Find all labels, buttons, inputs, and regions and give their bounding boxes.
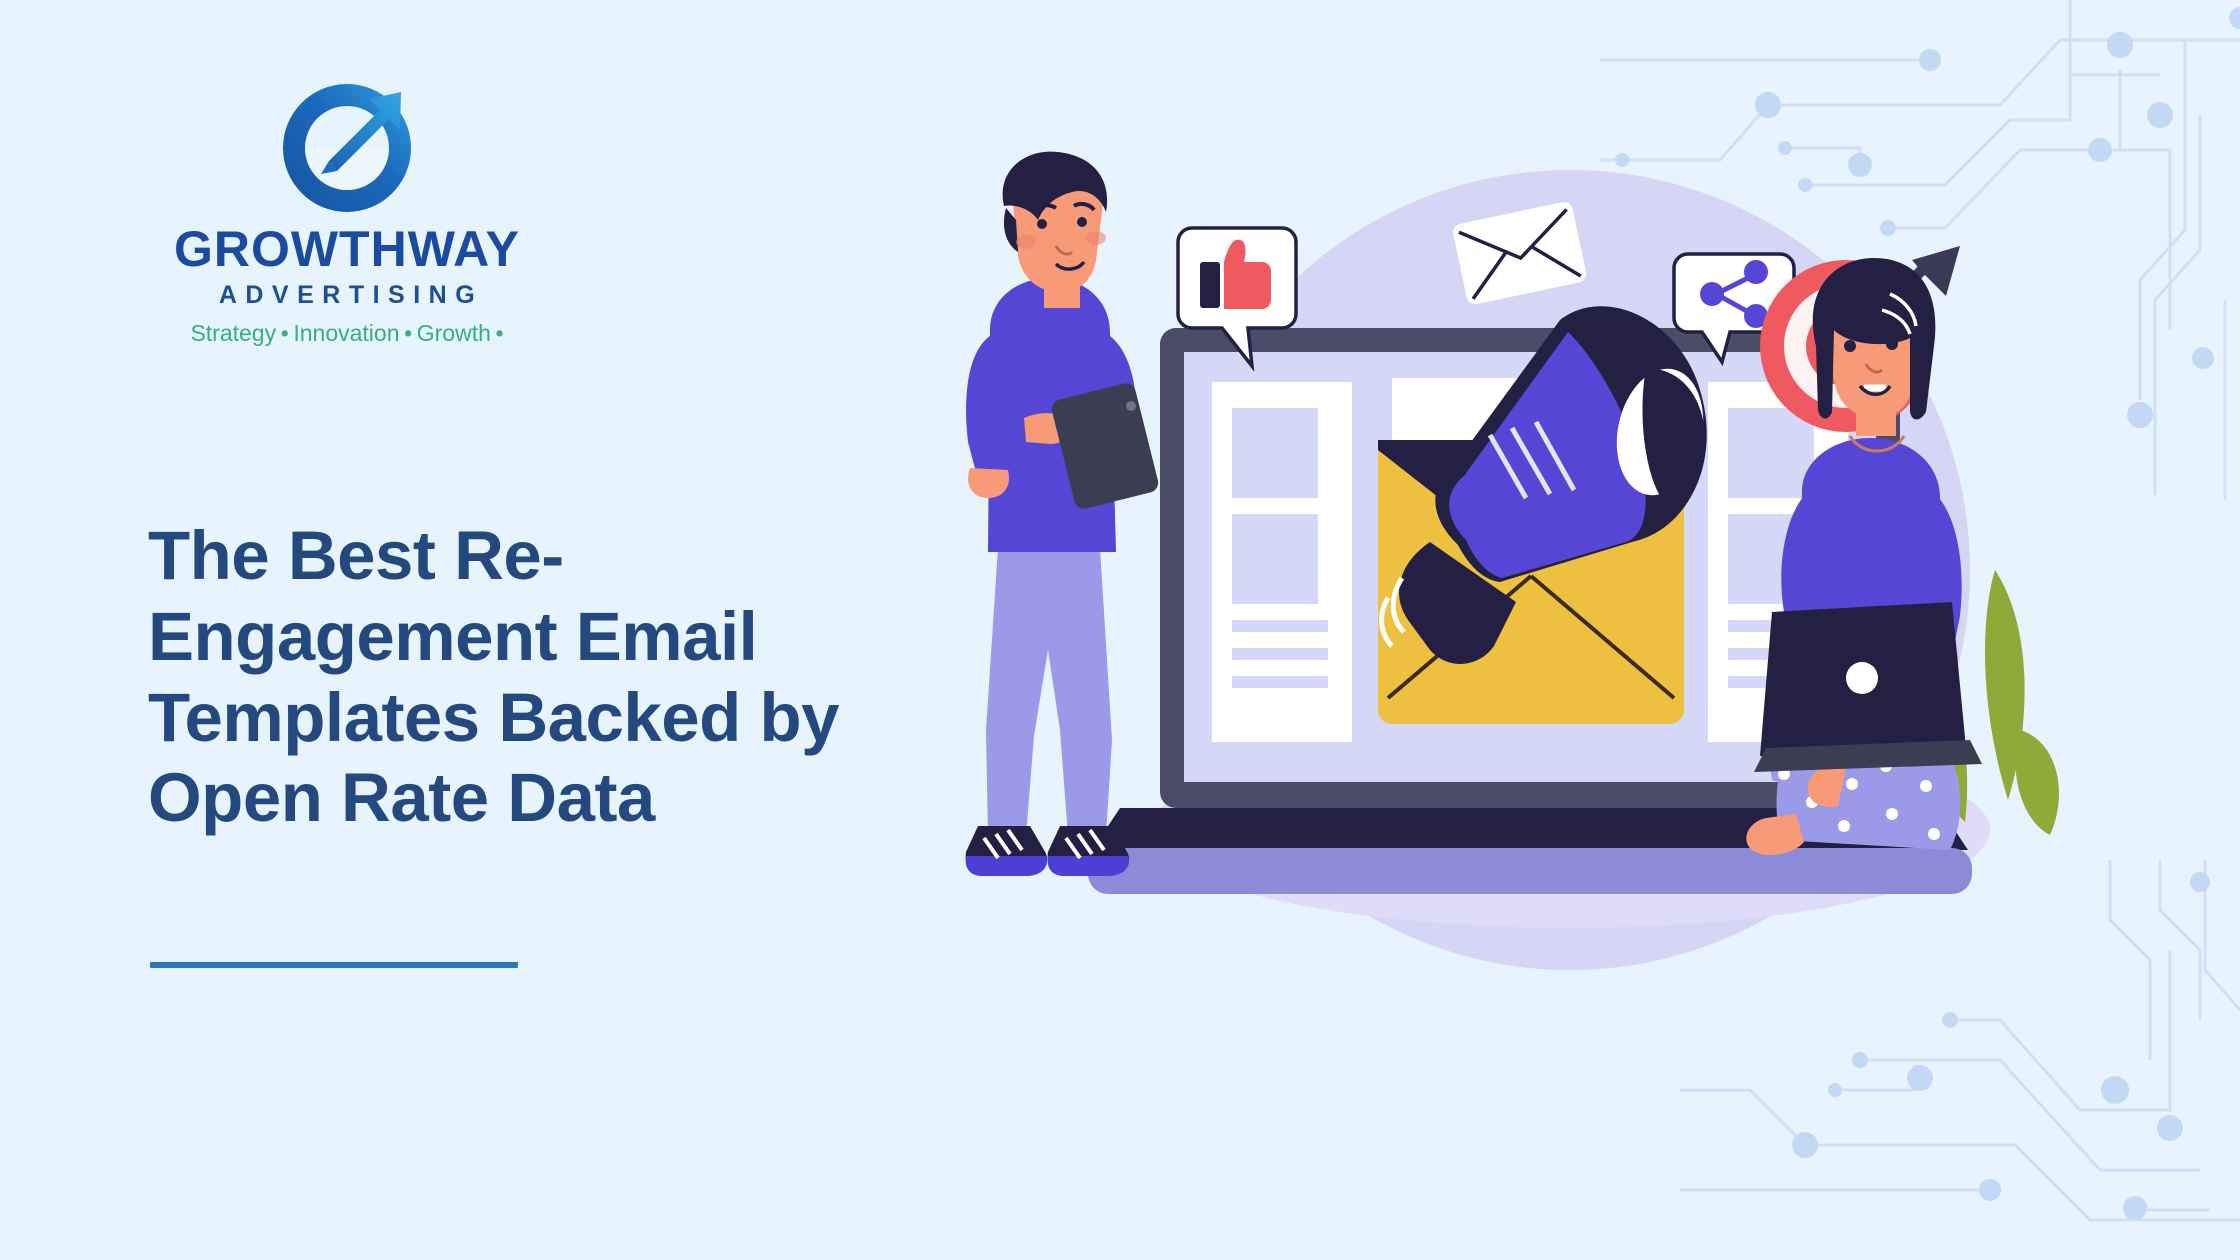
left-content-column: GROWTHWAY ADVERTISING Strategy • Innovat… [0, 0, 960, 1260]
brand-subtitle: ADVERTISING [152, 281, 542, 310]
banner-root: GROWTHWAY ADVERTISING Strategy • Innovat… [0, 0, 2240, 1260]
email-marketing-illustration [960, 150, 2150, 1030]
brand-tagline: Strategy • Innovation • Growth • [152, 320, 542, 347]
title-divider [150, 962, 518, 968]
brand-logo-block[interactable]: GROWTHWAY ADVERTISING Strategy • Innovat… [152, 78, 542, 347]
man-with-tablet-icon [966, 152, 1161, 876]
growth-arrow-circle-logo-icon [277, 78, 417, 218]
brand-name: GROWTHWAY [152, 224, 542, 274]
page-title: The Best Re-Engagement Email Templates B… [148, 516, 908, 839]
